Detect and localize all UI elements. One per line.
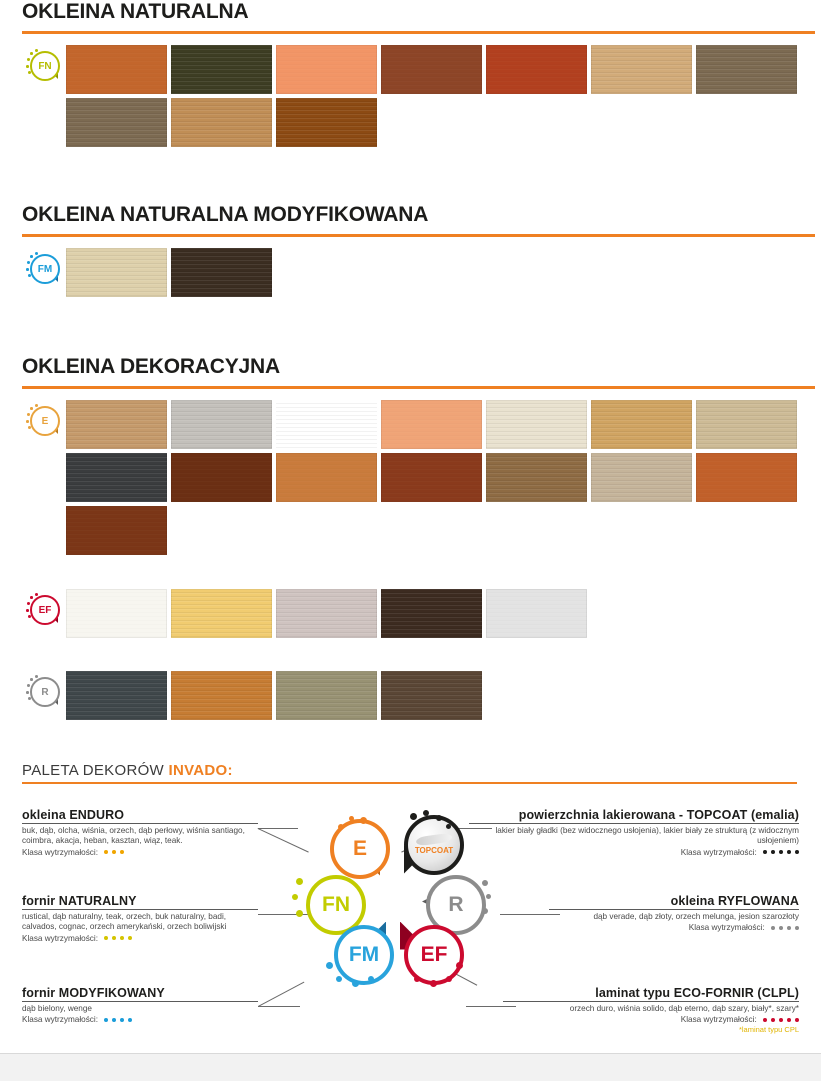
legend-desc: dąb bielony, wenge	[22, 1004, 258, 1015]
swatch-rows	[66, 400, 821, 555]
badge-ef[interactable]: EF	[26, 593, 60, 627]
swatch[interactable]	[696, 453, 797, 502]
swatch-rows	[66, 45, 821, 147]
swatch[interactable]	[696, 400, 797, 449]
badge-dots-icon	[324, 816, 388, 880]
section-title: OKLEINA NATURALNA MODYFIKOWANA	[0, 203, 821, 227]
swatch[interactable]	[66, 400, 167, 449]
palette-legend: PALETA DEKORÓW INVADO: okleina ENDURO bu…	[0, 762, 821, 1029]
section-divider	[22, 386, 815, 389]
swatch-group: EF	[0, 589, 821, 638]
swatch[interactable]	[171, 453, 272, 502]
legend-klasa-label: Klasa wytrzymałości:	[689, 923, 765, 932]
badge-fm[interactable]: FM	[26, 252, 60, 286]
legend-heading: fornir NATURALNY	[22, 894, 258, 908]
swatch[interactable]	[66, 98, 167, 147]
legend-heading: laminat typu ECO-FORNIR (CLPL)	[503, 986, 799, 1000]
swatch[interactable]	[66, 506, 167, 555]
legend-klasa-label: Klasa wytrzymałości:	[22, 1015, 98, 1024]
legend-entry-topcoat: powierzchnia lakierowana - TOPCOAT (emal…	[469, 808, 799, 857]
cluster-badge-e[interactable]: E	[324, 816, 388, 880]
badge-dots-icon	[26, 49, 40, 75]
legend-entry-fornir-naturalny: fornir NATURALNY rustical, dąb naturalny…	[22, 894, 258, 943]
swatch[interactable]	[381, 453, 482, 502]
swatch[interactable]	[66, 248, 167, 297]
swatch[interactable]	[381, 671, 482, 720]
badge-dots-icon	[328, 922, 392, 986]
swatch-row	[66, 589, 821, 638]
swatch-row	[66, 98, 821, 147]
swatch-rows	[66, 589, 821, 638]
swatch[interactable]	[486, 453, 587, 502]
legend-klasa: Klasa wytrzymałości:	[469, 848, 799, 857]
swatch[interactable]	[276, 589, 377, 638]
badge-dots-icon	[26, 675, 40, 701]
swatch[interactable]	[171, 671, 272, 720]
legend-heading: okleina ENDURO	[22, 808, 258, 822]
footer-band	[0, 1053, 821, 1081]
badge-dots-icon	[26, 404, 40, 430]
legend-heading: powierzchnia lakierowana - TOPCOAT (emal…	[469, 808, 799, 822]
swatch-group: FN	[0, 45, 821, 147]
palette-title-brand: INVADO:	[168, 762, 232, 779]
swatch[interactable]	[276, 45, 377, 94]
legend-klasa-label: Klasa wytrzymałości:	[22, 934, 98, 943]
legend-klasa: Klasa wytrzymałości:	[549, 923, 799, 932]
swatch-row	[66, 671, 821, 720]
badge-column: E	[18, 400, 62, 448]
section-eco-fornir: EF	[0, 589, 821, 642]
legend-rule	[22, 823, 258, 824]
swatch[interactable]	[591, 400, 692, 449]
badge-dots-icon	[398, 812, 462, 876]
badge-dots-icon	[26, 593, 40, 619]
legend-klasa-label: Klasa wytrzymałości:	[681, 1015, 757, 1024]
swatch-rows	[66, 248, 821, 297]
legend-klasa-label: Klasa wytrzymałości:	[681, 848, 757, 857]
swatch-group: FM	[0, 248, 821, 297]
badge-dots-icon	[398, 922, 462, 986]
section-okleina-dekoracyjna: OKLEINA DEKORACYJNA E	[0, 355, 821, 559]
swatch[interactable]	[486, 45, 587, 94]
legend-area: okleina ENDURO buk, dąb, olcha, wiśnia, …	[0, 784, 821, 1029]
swatch[interactable]	[66, 45, 167, 94]
swatch-row	[66, 506, 821, 555]
swatch[interactable]	[276, 98, 377, 147]
legend-entry-eco-fornir: laminat typu ECO-FORNIR (CLPL) orzech du…	[503, 986, 799, 1035]
swatch[interactable]	[591, 45, 692, 94]
legend-desc: orzech duro, wiśnia solido, dąb eterno, …	[503, 1004, 799, 1015]
legend-klasa: Klasa wytrzymałości:	[22, 934, 258, 943]
swatch[interactable]	[486, 400, 587, 449]
section-okleina-naturalna-modyfikowana: OKLEINA NATURALNA MODYFIKOWANA FM	[0, 203, 821, 301]
swatch[interactable]	[171, 248, 272, 297]
swatch-group: R	[0, 671, 821, 720]
badge-column: FM	[18, 248, 62, 296]
swatch[interactable]	[66, 589, 167, 638]
legend-rule	[22, 909, 258, 910]
swatch[interactable]	[66, 453, 167, 502]
cluster-badge-fm[interactable]: FM	[328, 922, 392, 986]
swatch-placeholder	[276, 400, 377, 449]
swatch[interactable]	[171, 98, 272, 147]
legend-desc: rustical, dąb naturalny, teak, orzech, b…	[22, 912, 258, 933]
badge-e[interactable]: E	[26, 404, 60, 438]
section-okleina-naturalna: OKLEINA NATURALNA FN	[0, 0, 821, 151]
swatch[interactable]	[66, 671, 167, 720]
section-divider	[22, 31, 815, 34]
section-ryflowana: R	[0, 671, 821, 724]
legend-desc: buk, dąb, olcha, wiśnia, orzech, dąb per…	[22, 826, 258, 847]
swatch[interactable]	[171, 589, 272, 638]
swatch[interactable]	[381, 589, 482, 638]
legend-rule	[549, 909, 799, 910]
swatch-row	[66, 45, 821, 94]
badge-column: R	[18, 671, 62, 719]
legend-rule	[469, 823, 799, 824]
badge-column: EF	[18, 589, 62, 637]
swatch[interactable]	[276, 453, 377, 502]
legend-heading: okleina RYFLOWANA	[549, 894, 799, 908]
legend-klasa: Klasa wytrzymałości:	[22, 1015, 258, 1024]
legend-rule	[22, 1001, 258, 1002]
swatch[interactable]	[276, 671, 377, 720]
legend-desc: lakier biały gładki (bez widocznego usło…	[469, 826, 799, 847]
palette-title-prefix: PALETA DEKORÓW	[22, 762, 168, 779]
swatch-row	[66, 400, 821, 449]
swatch-group: E	[0, 400, 821, 555]
badge-r[interactable]: R	[26, 675, 60, 709]
swatch-row	[66, 453, 821, 502]
swatch[interactable]	[696, 45, 797, 94]
legend-klasa: Klasa wytrzymałości:	[22, 848, 258, 857]
swatch[interactable]	[381, 400, 482, 449]
legend-entry-ryflowana: okleina RYFLOWANA dąb verade, dąb złoty,…	[549, 894, 799, 933]
legend-klasa-label: Klasa wytrzymałości:	[22, 848, 98, 857]
swatch[interactable]	[171, 400, 272, 449]
swatch[interactable]	[486, 589, 587, 638]
swatch[interactable]	[381, 45, 482, 94]
legend-rule	[503, 1001, 799, 1002]
section-title: OKLEINA DEKORACYJNA	[0, 355, 821, 379]
cluster-badge-ef[interactable]: EF	[398, 922, 462, 986]
legend-heading: fornir MODYFIKOWANY	[22, 986, 258, 1000]
palette-title: PALETA DEKORÓW INVADO:	[0, 762, 821, 779]
section-title: OKLEINA NATURALNA	[0, 0, 821, 24]
swatch-row	[66, 248, 821, 297]
legend-entry-enduro: okleina ENDURO buk, dąb, olcha, wiśnia, …	[22, 808, 258, 857]
swatch-rows	[66, 671, 821, 720]
cluster-badge-topcoat[interactable]: TOPCOAT	[398, 812, 462, 876]
swatch[interactable]	[171, 45, 272, 94]
badge-column: FN	[18, 45, 62, 93]
legend-desc: dąb verade, dąb złoty, orzech melunga, j…	[549, 912, 799, 923]
swatch[interactable]	[591, 453, 692, 502]
section-divider	[22, 234, 815, 237]
badge-dots-icon	[26, 252, 40, 278]
legend-entry-fornir-modyfikowany: fornir MODYFIKOWANY dąb bielony, wenge K…	[22, 986, 258, 1025]
badge-cluster: E TOPCOAT	[288, 794, 518, 1009]
legend-klasa: Klasa wytrzymałości:	[503, 1015, 799, 1024]
decor-palette-page: OKLEINA NATURALNA FN	[0, 0, 821, 1080]
badge-fn[interactable]: FN	[26, 49, 60, 83]
legend-footnote: *laminat typu CPL	[503, 1025, 799, 1034]
